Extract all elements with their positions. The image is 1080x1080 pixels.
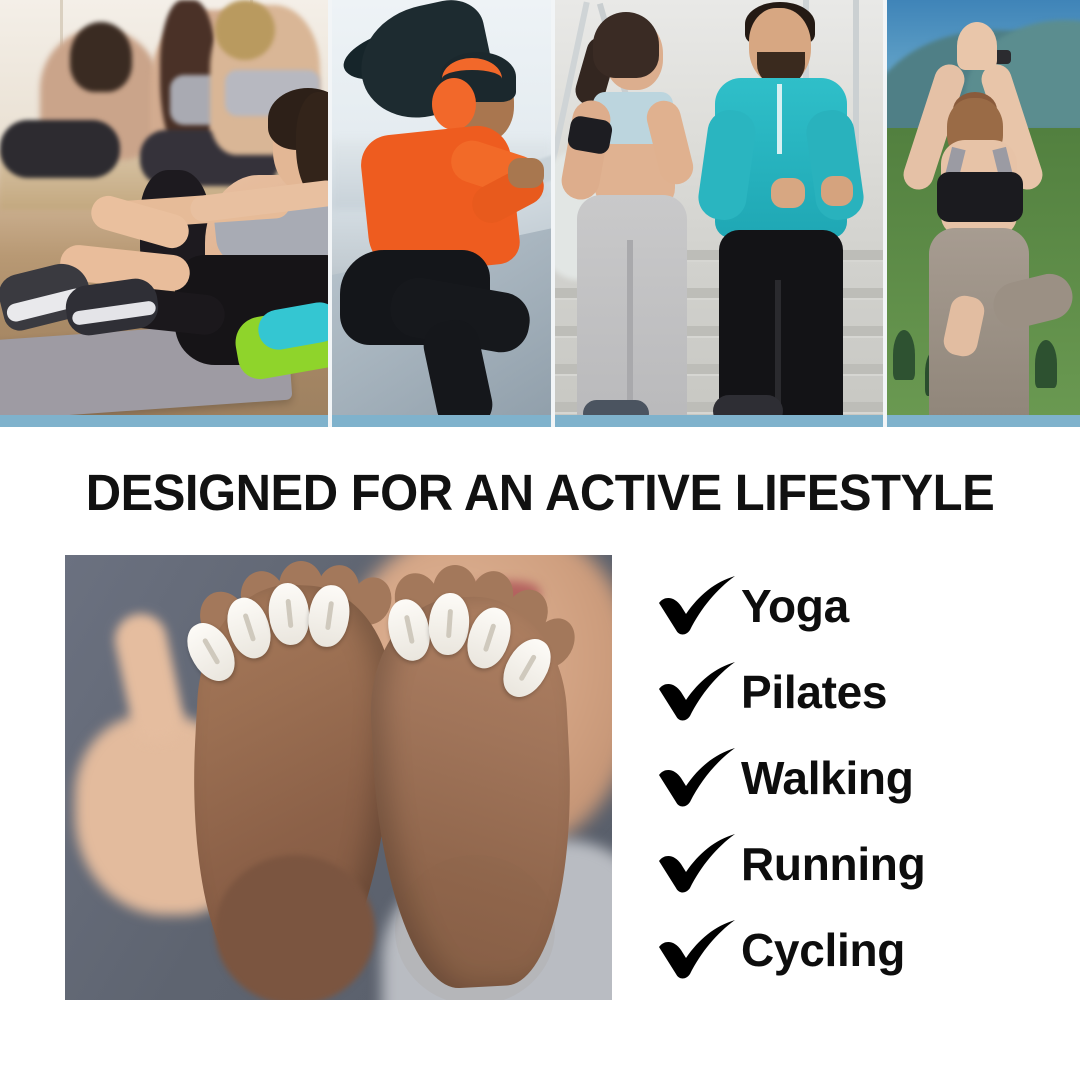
strip-divider <box>328 0 332 427</box>
strip-divider <box>551 0 555 427</box>
stair-running-photo <box>553 0 885 427</box>
pilates-class-photo <box>0 0 330 427</box>
list-item-label: Cycling <box>741 927 905 973</box>
check-icon <box>655 833 741 895</box>
check-icon <box>655 575 741 637</box>
ad-creative: DESIGNED FOR AN ACTIVE LIFESTYLE <box>0 0 1080 1080</box>
photo-strip <box>0 0 1080 427</box>
activity-checklist: Yoga Pilates Walking <box>655 563 1075 993</box>
page-title: DESIGNED FOR AN ACTIVE LIFESTYLE <box>22 463 1059 522</box>
list-item: Walking <box>655 735 1075 821</box>
step-workout-photo <box>330 0 553 427</box>
check-icon <box>655 747 741 809</box>
list-item-label: Pilates <box>741 669 887 715</box>
check-icon <box>655 661 741 723</box>
list-item: Running <box>655 821 1075 907</box>
list-item: Yoga <box>655 563 1075 649</box>
list-item-label: Running <box>741 841 925 887</box>
check-icon <box>655 919 741 981</box>
strip-accent-bar <box>0 415 1080 427</box>
left-heel-shadow <box>215 855 375 1000</box>
list-item: Pilates <box>655 649 1075 735</box>
mountain-yoga-photo <box>885 0 1080 427</box>
list-item: Cycling <box>655 907 1075 993</box>
toe-separators-photo <box>65 555 612 1000</box>
right-heel-shadow <box>395 855 555 1000</box>
list-item-label: Yoga <box>741 583 849 629</box>
strip-divider <box>883 0 887 427</box>
list-item-label: Walking <box>741 755 914 801</box>
